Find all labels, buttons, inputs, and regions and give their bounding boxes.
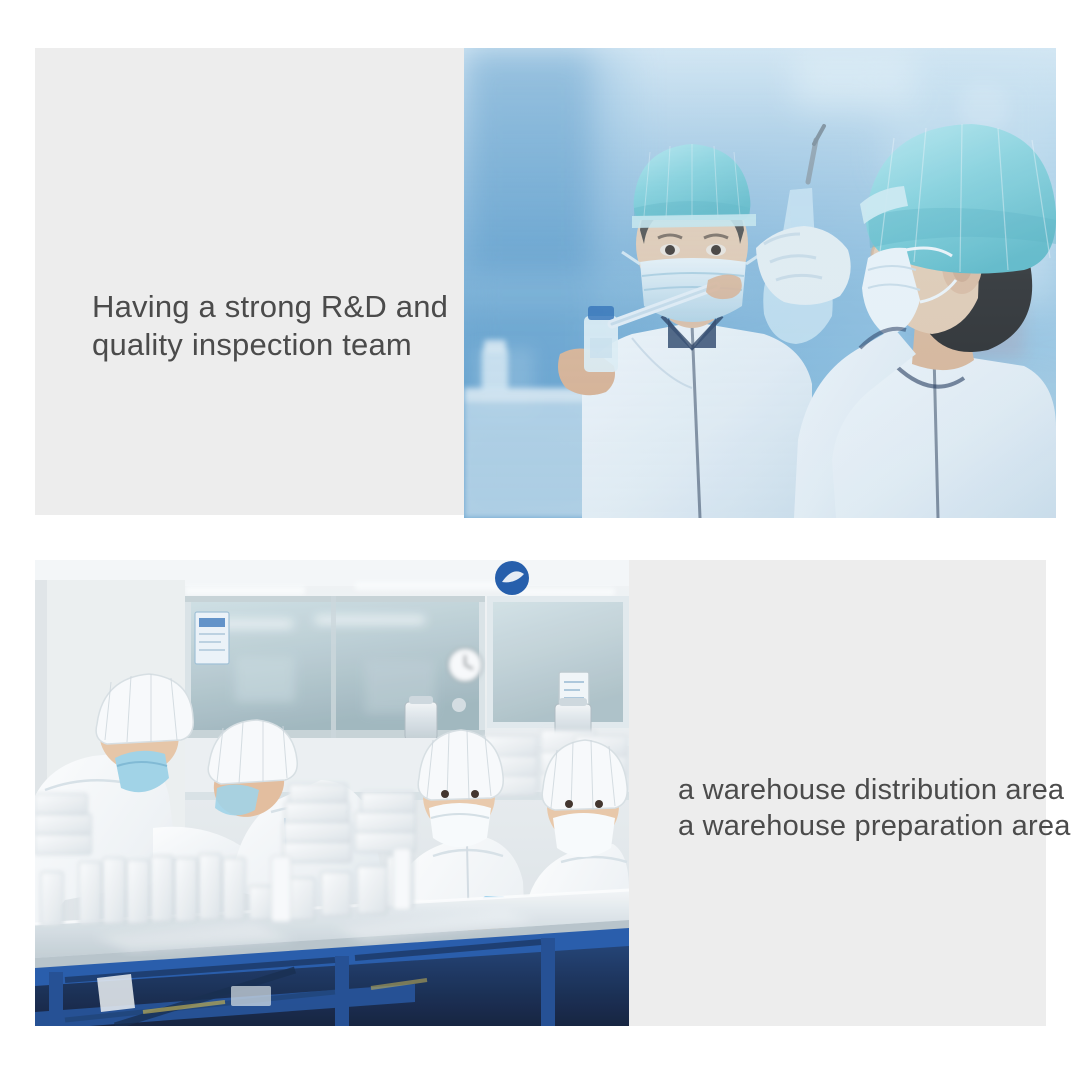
warehouse-packing-photo xyxy=(35,560,629,1026)
section-rnd-quality: Having a strong R&D and quality inspecti… xyxy=(0,0,1080,540)
caption-line-1: Having a strong R&D and xyxy=(92,288,492,326)
page-root: Having a strong R&D and quality inspecti… xyxy=(0,0,1080,1080)
lab-technicians-photo xyxy=(464,48,1056,518)
caption-warehouse-areas: a warehouse distribution area a warehous… xyxy=(678,772,1078,844)
caption-line-2: quality inspection team xyxy=(92,326,492,364)
caption-line-2: a warehouse preparation area xyxy=(678,808,1078,844)
caption-line-1: a warehouse distribution area xyxy=(678,772,1078,808)
caption-panel-rnd: Having a strong R&D and quality inspecti… xyxy=(35,48,505,515)
caption-rnd-quality: Having a strong R&D and quality inspecti… xyxy=(92,288,492,364)
lab-photo-illustration xyxy=(464,48,1056,518)
section-warehouse-areas: a warehouse distribution area a warehous… xyxy=(0,540,1080,1080)
warehouse-photo-illustration xyxy=(35,560,629,1026)
